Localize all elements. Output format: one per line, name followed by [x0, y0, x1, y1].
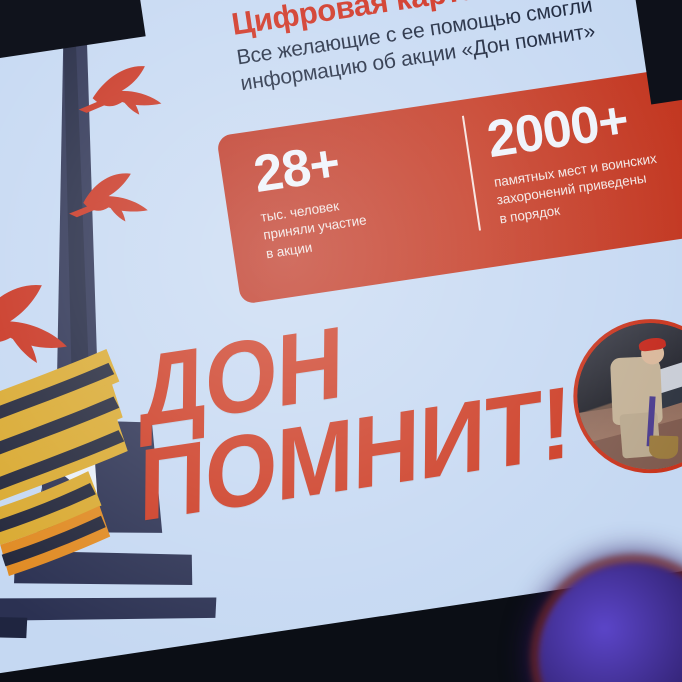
stat-people: 28+ тыс. человек приняли участие в акции — [219, 121, 473, 268]
screenshot-stage: Цифровая карта памятн Все желающие с ее … — [0, 0, 682, 682]
volunteer-sweeping-photo — [563, 309, 682, 484]
flying-cranes-icon — [0, 0, 197, 382]
stat-places: 2000+ памятных мест и воинских захоронен… — [457, 76, 682, 232]
photo-broom-head — [649, 435, 679, 459]
